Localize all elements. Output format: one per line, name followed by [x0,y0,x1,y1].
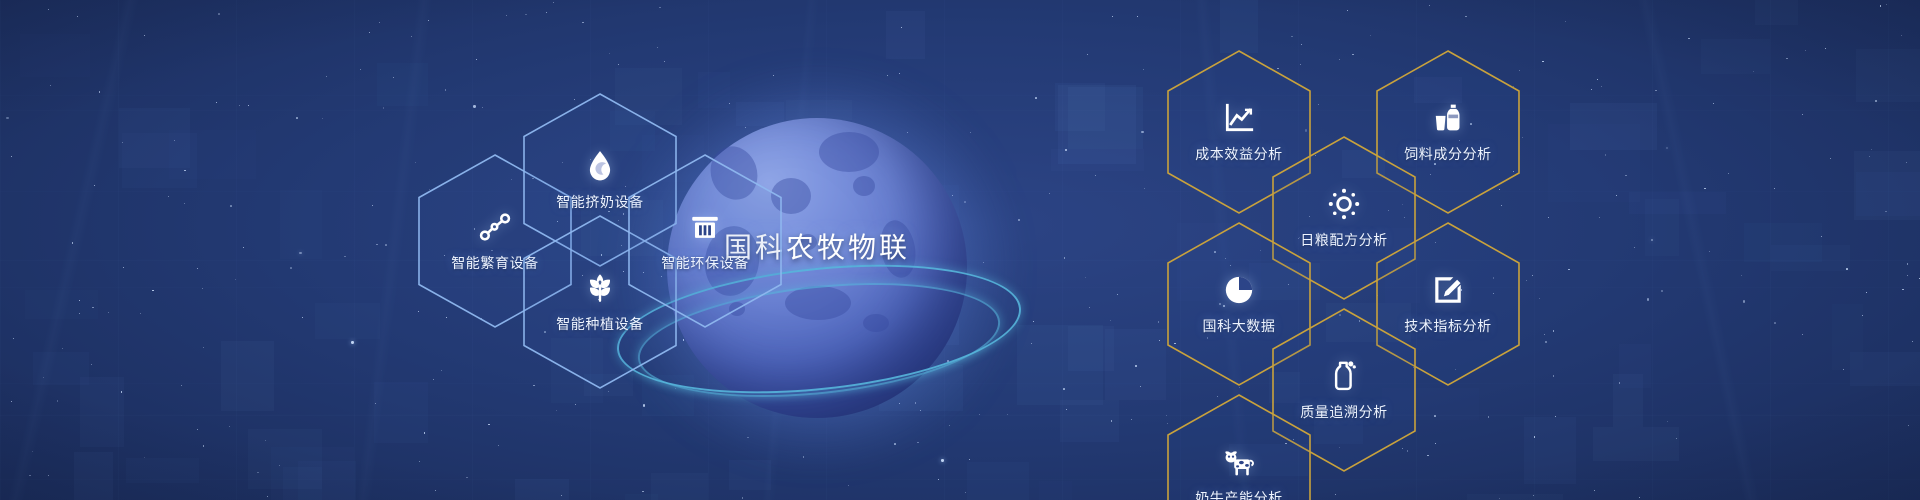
cow-icon [1222,445,1256,479]
hex-label: 国科大数据 [1203,316,1276,336]
hero-banner: 国科农牧物联 智能繁育设备 智能挤奶设备 [0,0,1920,500]
planet-crater [819,132,879,172]
planet-crater [853,176,875,196]
pie-chart-icon [1222,273,1256,307]
water-drop-icon [583,149,617,183]
hex-tile-smart-environment[interactable]: 智能环保设备 [626,152,784,330]
edit-pencil-icon [1431,273,1465,307]
hex-label: 质量追溯分析 [1300,402,1388,422]
sun-nutrient-icon [1327,187,1361,221]
network-node-icon [478,210,512,244]
hex-tile-cow-capacity-analysis[interactable]: 奶牛产能分析 [1165,392,1313,500]
hex-label: 智能环保设备 [661,253,749,273]
line-chart-icon [1222,101,1256,135]
bottle-glass-icon [1431,101,1465,135]
plant-leaf-icon [583,271,617,305]
milk-bottle-icon [1327,359,1361,393]
hex-label: 奶牛产能分析 [1195,488,1283,500]
trash-bin-icon [688,210,722,244]
